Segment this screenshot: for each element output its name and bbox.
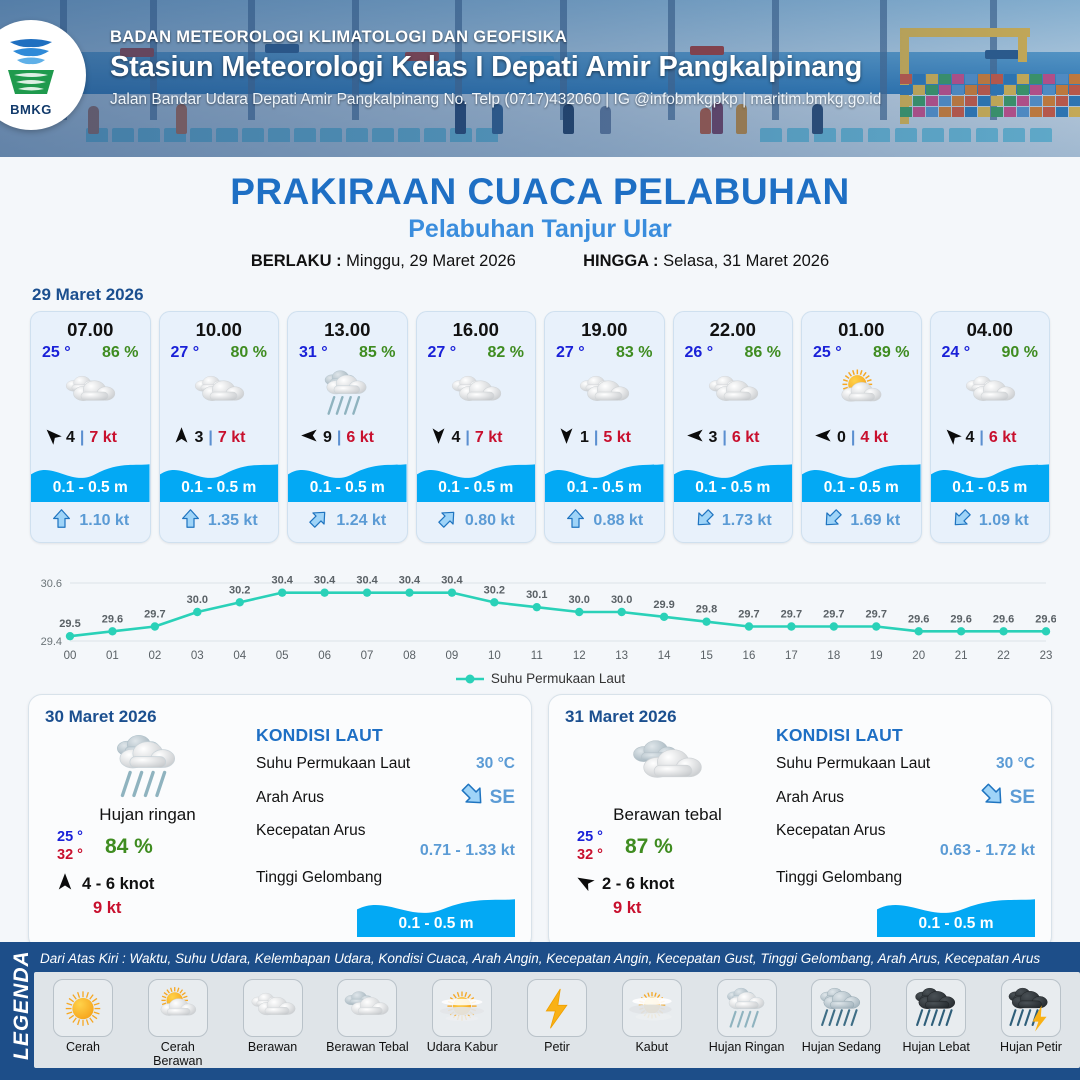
svg-text:30.2: 30.2: [229, 584, 250, 596]
svg-text:20: 20: [912, 650, 925, 662]
sea-condition-title: KONDISI LAUT: [776, 725, 1035, 746]
card-humidity: 85 %: [359, 344, 395, 362]
daily-date: 30 Maret 2026: [45, 707, 250, 727]
svg-text:21: 21: [955, 650, 968, 662]
daily-date: 31 Maret 2026: [565, 707, 770, 727]
svg-text:01: 01: [106, 650, 119, 662]
weather-petir-icon: [527, 979, 587, 1037]
hourly-date-label: 29 Maret 2026: [32, 285, 1080, 305]
wind-direction-icon: [686, 426, 705, 450]
wind-direction-icon: [943, 426, 962, 450]
wave-height-label: Tinggi Gelombang: [256, 869, 515, 887]
station-name: Stasiun Meteorologi Kelas I Depati Amir …: [110, 51, 881, 84]
wind-gust: 7 kt: [89, 429, 117, 447]
wind-gust: 7 kt: [218, 429, 246, 447]
card-temperature: 31 °: [299, 344, 328, 362]
svg-text:30.0: 30.0: [187, 594, 208, 606]
wind-speed: 1: [580, 429, 589, 447]
daily-temp-min: 25 °: [57, 829, 83, 847]
page-title: PRAKIRAAN CUACA PELABUHAN: [0, 171, 1080, 213]
separator: |: [851, 429, 855, 447]
wave-height-block: 0.1 - 0.5 m: [802, 456, 921, 502]
current-direction-value: SE: [1010, 787, 1035, 809]
legend-item: Cerah Berawan: [135, 979, 221, 1069]
current-speed: 0.88 kt: [593, 512, 643, 530]
svg-text:06: 06: [318, 650, 331, 662]
hourly-card[interactable]: 13.00 31 ° 85 % 9 | 6 kt: [287, 311, 408, 543]
svg-text:07: 07: [361, 650, 374, 662]
title-block: PRAKIRAAN CUACA PELABUHAN Pelabuhan Tanj…: [0, 157, 1080, 271]
svg-text:29.5: 29.5: [59, 618, 80, 630]
svg-text:22: 22: [997, 650, 1010, 662]
current-speed: 1.24 kt: [336, 512, 386, 530]
agency-name: BADAN METEOROLOGI KLIMATOLOGI DAN GEOFIS…: [110, 28, 881, 47]
weather-berawan-icon: [931, 362, 1050, 424]
svg-text:30.4: 30.4: [314, 575, 336, 587]
daily-temp-min: 25 °: [577, 829, 603, 847]
weather-berawan-icon: [417, 362, 536, 424]
wave-height-label: Tinggi Gelombang: [776, 869, 1035, 887]
separator: |: [465, 429, 469, 447]
hourly-card[interactable]: 10.00 27 ° 80 % 3 | 7 kt: [159, 311, 280, 543]
card-time: 04.00: [931, 312, 1050, 341]
legend-item-label: Petir: [544, 1041, 570, 1055]
legend-item: Berawan Tebal: [324, 979, 410, 1055]
wind-speed: 3: [709, 429, 718, 447]
card-humidity: 86 %: [102, 344, 138, 362]
svg-text:18: 18: [827, 650, 840, 662]
svg-text:29.6: 29.6: [950, 613, 971, 625]
current-direction-icon: [460, 782, 486, 813]
wave-height-block: 0.1 - 0.5 m: [31, 456, 150, 502]
hourly-card[interactable]: 01.00 25 ° 89 % 0 | 4 kt 0.1 - 0.5 m: [801, 311, 922, 543]
weather-udara-kabur-icon: [432, 979, 492, 1037]
svg-text:29.7: 29.7: [823, 609, 844, 621]
wind-direction-icon: [429, 426, 448, 450]
wave-height-block: 0.1 - 0.5 m: [931, 456, 1050, 502]
svg-text:30.4: 30.4: [271, 575, 293, 587]
wind-speed: 3: [195, 429, 204, 447]
sst-label: Suhu Permukaan Laut: [256, 755, 410, 773]
wind-direction-icon: [55, 872, 75, 897]
weather-berawan-icon: [674, 362, 793, 424]
card-humidity: 90 %: [1002, 344, 1038, 362]
wind-gust: 5 kt: [603, 429, 631, 447]
svg-text:13: 13: [615, 650, 628, 662]
wave-height-value: 0.1 - 0.5 m: [545, 479, 664, 497]
current-direction-icon: [180, 508, 201, 534]
card-humidity: 83 %: [616, 344, 652, 362]
card-temperature: 27 °: [556, 344, 585, 362]
daily-temp-max: 32 °: [57, 847, 83, 865]
legend-caption: Dari Atas Kiri : Waktu, Suhu Udara, Kele…: [34, 942, 1080, 972]
svg-text:03: 03: [191, 650, 204, 662]
svg-text:29.6: 29.6: [908, 613, 929, 625]
svg-text:30.2: 30.2: [484, 584, 505, 596]
legend-item: Kabut: [609, 979, 695, 1055]
legend-item-label: Udara Kabur: [427, 1041, 498, 1055]
chart-legend-label: Suhu Permukaan Laut: [491, 671, 625, 686]
current-direction-icon: [437, 508, 458, 534]
wave-height-value: 0.1 - 0.5 m: [802, 479, 921, 497]
current-speed: 1.09 kt: [979, 512, 1029, 530]
daily-condition: Hujan ringan: [45, 805, 250, 825]
wind-speed: 4: [452, 429, 461, 447]
svg-text:30.4: 30.4: [356, 575, 378, 587]
svg-text:15: 15: [700, 650, 713, 662]
chart-legend: Suhu Permukaan Laut: [0, 671, 1080, 686]
weather-hujan-ringan-icon: [717, 979, 777, 1037]
svg-text:30.4: 30.4: [399, 575, 421, 587]
daily-forecast-card[interactable]: 30 Maret 2026 Hujan ringan 25 ° 32 ° 84 …: [28, 694, 532, 950]
svg-text:19: 19: [870, 650, 883, 662]
wind-speed: 0: [837, 429, 846, 447]
legend-item: Cerah: [40, 979, 126, 1055]
legend-item-label: Hujan Lebat: [902, 1041, 969, 1055]
separator: |: [80, 429, 84, 447]
card-time: 10.00: [160, 312, 279, 341]
bmkg-logo-text: BMKG: [10, 102, 52, 117]
current-speed-value: 0.71 - 1.33 kt: [256, 842, 515, 860]
current-direction-icon: [565, 508, 586, 534]
weather-cerah-berawan-icon: [148, 979, 208, 1037]
card-temperature: 27 °: [171, 344, 200, 362]
wave-height-value: 0.1 - 0.5 m: [160, 479, 279, 497]
current-direction-label: Arah Arus: [256, 789, 324, 807]
svg-text:30.0: 30.0: [569, 594, 590, 606]
current-direction-icon: [694, 508, 715, 534]
legend-item: Hujan Petir: [988, 979, 1074, 1055]
current-speed: 1.10 kt: [79, 512, 129, 530]
sst-value: 30 °C: [476, 755, 515, 773]
card-time: 19.00: [545, 312, 664, 341]
svg-text:30.0: 30.0: [611, 594, 632, 606]
hourly-card[interactable]: 07.00 25 ° 86 % 4 | 7 kt: [30, 311, 151, 543]
wave-height-value: 0.1 - 0.5 m: [417, 479, 536, 497]
validity-line: BERLAKU : Minggu, 29 Maret 2026 HINGGA :…: [0, 252, 1080, 271]
legend-item-label: Hujan Ringan: [709, 1041, 785, 1055]
daily-forecast-panels: 30 Maret 2026 Hujan ringan 25 ° 32 ° 84 …: [0, 686, 1080, 950]
svg-text:10: 10: [488, 650, 501, 662]
current-speed-value: 0.63 - 1.72 kt: [776, 842, 1035, 860]
svg-text:29.7: 29.7: [866, 609, 887, 621]
current-direction-icon: [951, 508, 972, 534]
svg-text:05: 05: [276, 650, 289, 662]
legend-icon-list: Cerah Cerah Berawan Berawan: [34, 972, 1080, 1068]
legend-item-label: Hujan Petir: [1000, 1041, 1062, 1055]
wave-height-block: 0.1 - 0.5 m: [417, 456, 536, 502]
wind-gust: 4 kt: [860, 429, 888, 447]
valid-from-label: BERLAKU :: [251, 252, 342, 270]
legend-item-label: Kabut: [635, 1041, 668, 1055]
current-speed: 1.69 kt: [850, 512, 900, 530]
wave-height-value: 0.1 - 0.5 m: [674, 479, 793, 497]
current-speed-label: Kecepatan Arus: [776, 822, 1035, 840]
legend-item-label: Berawan: [248, 1041, 297, 1055]
separator: |: [594, 429, 598, 447]
valid-from-value: Minggu, 29 Maret 2026: [346, 252, 516, 270]
svg-text:29.6: 29.6: [1035, 613, 1056, 625]
wave-height-value: 0.1 - 0.5 m: [357, 915, 515, 933]
hourly-forecast-list: 07.00 25 ° 86 % 4 | 7 kt: [0, 311, 1080, 543]
weather-berawan-icon: [545, 362, 664, 424]
svg-text:29.9: 29.9: [653, 599, 674, 611]
weather-berawan-icon: [31, 362, 150, 424]
current-direction-icon: [980, 782, 1006, 813]
current-direction-value: SE: [490, 787, 515, 809]
separator: |: [337, 429, 341, 447]
separator: |: [722, 429, 726, 447]
legend-item: Hujan Lebat: [893, 979, 979, 1055]
port-name: Pelabuhan Tanjur Ular: [0, 215, 1080, 244]
svg-text:29.8: 29.8: [696, 604, 717, 616]
wave-height-value: 0.1 - 0.5 m: [931, 479, 1050, 497]
card-time: 13.00: [288, 312, 407, 341]
wind-gust: 6 kt: [346, 429, 374, 447]
legend-item: Hujan Ringan: [704, 979, 790, 1055]
wind-gust: 7 kt: [475, 429, 503, 447]
legend-item: Petir: [514, 979, 600, 1055]
wave-height-block: 0.1 - 0.5 m: [674, 456, 793, 502]
svg-text:09: 09: [446, 650, 459, 662]
card-temperature: 24 °: [942, 344, 971, 362]
current-direction-label: Arah Arus: [776, 789, 844, 807]
wind-speed: 4: [66, 429, 75, 447]
hourly-card[interactable]: 04.00 24 ° 90 % 4 | 6 kt: [930, 311, 1051, 543]
valid-until-value: Selasa, 31 Maret 2026: [663, 252, 829, 270]
svg-text:30.1: 30.1: [526, 589, 547, 601]
daily-humidity: 87 %: [625, 835, 673, 859]
legend-item: Berawan: [230, 979, 316, 1055]
wave-height-block: 0.1 - 0.5 m: [545, 456, 664, 502]
legend-item-label: Cerah Berawan: [135, 1041, 221, 1069]
wind-gust: 6 kt: [732, 429, 760, 447]
wave-height-block: 0.1 - 0.5 m: [357, 891, 515, 939]
wind-speed: 9: [323, 429, 332, 447]
svg-text:17: 17: [785, 650, 798, 662]
wind-direction-icon: [300, 426, 319, 450]
wind-direction-icon: [575, 872, 595, 897]
svg-text:12: 12: [573, 650, 586, 662]
svg-text:02: 02: [148, 650, 161, 662]
current-speed: 1.73 kt: [722, 512, 772, 530]
svg-text:29.7: 29.7: [144, 609, 165, 621]
legend-item: Hujan Sedang: [798, 979, 884, 1055]
sea-condition-title: KONDISI LAUT: [256, 725, 515, 746]
svg-text:30.4: 30.4: [441, 575, 463, 587]
current-direction-icon: [308, 508, 329, 534]
legend-item-label: Berawan Tebal: [326, 1041, 408, 1055]
wave-height-block: 0.1 - 0.5 m: [288, 456, 407, 502]
sst-label: Suhu Permukaan Laut: [776, 755, 930, 773]
card-humidity: 82 %: [488, 344, 524, 362]
svg-text:00: 00: [64, 650, 77, 662]
hourly-card[interactable]: 19.00 27 ° 83 % 1 | 5 kt: [544, 311, 665, 543]
weather-hujan-petir-icon: [1001, 979, 1061, 1037]
sst-value: 30 °C: [996, 755, 1035, 773]
svg-text:14: 14: [658, 650, 671, 662]
legend-item-label: Cerah: [66, 1041, 100, 1055]
svg-text:29.7: 29.7: [781, 609, 802, 621]
separator: |: [979, 429, 983, 447]
legend-strip: LEGENDA Dari Atas Kiri : Waktu, Suhu Uda…: [0, 942, 1080, 1080]
legend-side-title: LEGENDA: [0, 942, 34, 1080]
card-time: 01.00: [802, 312, 921, 341]
weather-berawan-icon: [160, 362, 279, 424]
daily-wind-range: 4 - 6 knot: [82, 875, 154, 894]
wind-gust: 6 kt: [989, 429, 1017, 447]
wind-direction-icon: [43, 426, 62, 450]
daily-wind-range: 2 - 6 knot: [602, 875, 674, 894]
current-speed-label: Kecepatan Arus: [256, 822, 515, 840]
valid-until-label: HINGGA :: [583, 252, 658, 270]
card-humidity: 86 %: [745, 344, 781, 362]
svg-text:29.4: 29.4: [41, 636, 62, 648]
daily-temp-max: 32 °: [577, 847, 603, 865]
weather-berawan-tebal-icon: [337, 979, 397, 1037]
card-humidity: 89 %: [873, 344, 909, 362]
daily-condition: Berawan tebal: [565, 805, 770, 825]
weather-cerah-berawan-icon: [802, 362, 921, 424]
weather-kabut-icon: [622, 979, 682, 1037]
svg-text:29.6: 29.6: [102, 613, 123, 625]
hourly-card[interactable]: 22.00 26 ° 86 % 3 | 6 kt: [673, 311, 794, 543]
wind-direction-icon: [172, 426, 191, 450]
wind-speed: 4: [966, 429, 975, 447]
current-direction-icon: [822, 508, 843, 534]
wind-direction-icon: [557, 426, 576, 450]
weather-hujan-ringan-icon: [45, 729, 250, 803]
weather-hujan-lebat-icon: [906, 979, 966, 1037]
current-speed: 1.35 kt: [208, 512, 258, 530]
svg-text:29.7: 29.7: [738, 609, 759, 621]
weather-cerah-icon: [53, 979, 113, 1037]
wave-height-value: 0.1 - 0.5 m: [877, 915, 1035, 933]
current-speed: 0.80 kt: [465, 512, 515, 530]
card-time: 22.00: [674, 312, 793, 341]
weather-berawan-tebal-icon: [565, 729, 770, 803]
card-temperature: 25 °: [42, 344, 71, 362]
wave-height-block: 0.1 - 0.5 m: [877, 891, 1035, 939]
hourly-card[interactable]: 16.00 27 ° 82 % 4 | 7 kt: [416, 311, 537, 543]
legend-item: Udara Kabur: [419, 979, 505, 1055]
wind-direction-icon: [814, 426, 833, 450]
svg-text:16: 16: [743, 650, 756, 662]
svg-text:11: 11: [531, 650, 543, 662]
current-direction-icon: [51, 508, 72, 534]
svg-text:08: 08: [403, 650, 416, 662]
card-temperature: 27 °: [428, 344, 457, 362]
card-humidity: 80 %: [231, 344, 267, 362]
weather-berawan-icon: [243, 979, 303, 1037]
legend-item-label: Hujan Sedang: [802, 1041, 881, 1055]
card-time: 07.00: [31, 312, 150, 341]
svg-text:30.6: 30.6: [41, 578, 62, 590]
legend-marker-icon: [455, 673, 485, 685]
wave-height-value: 0.1 - 0.5 m: [288, 479, 407, 497]
svg-text:23: 23: [1040, 650, 1053, 662]
bmkg-emblem-icon: [0, 34, 62, 100]
page-header: BMKG BADAN METEOROLOGI KLIMATOLOGI DAN G…: [0, 0, 1080, 157]
separator: |: [208, 429, 212, 447]
daily-humidity: 84 %: [105, 835, 153, 859]
daily-gust: 9 kt: [45, 899, 250, 918]
card-temperature: 26 °: [685, 344, 714, 362]
svg-text:29.6: 29.6: [993, 613, 1014, 625]
daily-forecast-card[interactable]: 31 Maret 2026 Berawan tebal 25 ° 32 ° 87…: [548, 694, 1052, 950]
daily-gust: 9 kt: [565, 899, 770, 918]
card-time: 16.00: [417, 312, 536, 341]
sst-chart: 30.629.429.50029.60129.70230.00330.20430…: [24, 559, 1056, 669]
wave-height-block: 0.1 - 0.5 m: [160, 456, 279, 502]
weather-hujan-ringan-icon: [288, 362, 407, 424]
wave-height-value: 0.1 - 0.5 m: [31, 479, 150, 497]
contact-line: Jalan Bandar Udara Depati Amir Pangkalpi…: [110, 91, 881, 109]
weather-hujan-sedang-icon: [811, 979, 871, 1037]
svg-text:04: 04: [233, 650, 246, 662]
card-temperature: 25 °: [813, 344, 842, 362]
